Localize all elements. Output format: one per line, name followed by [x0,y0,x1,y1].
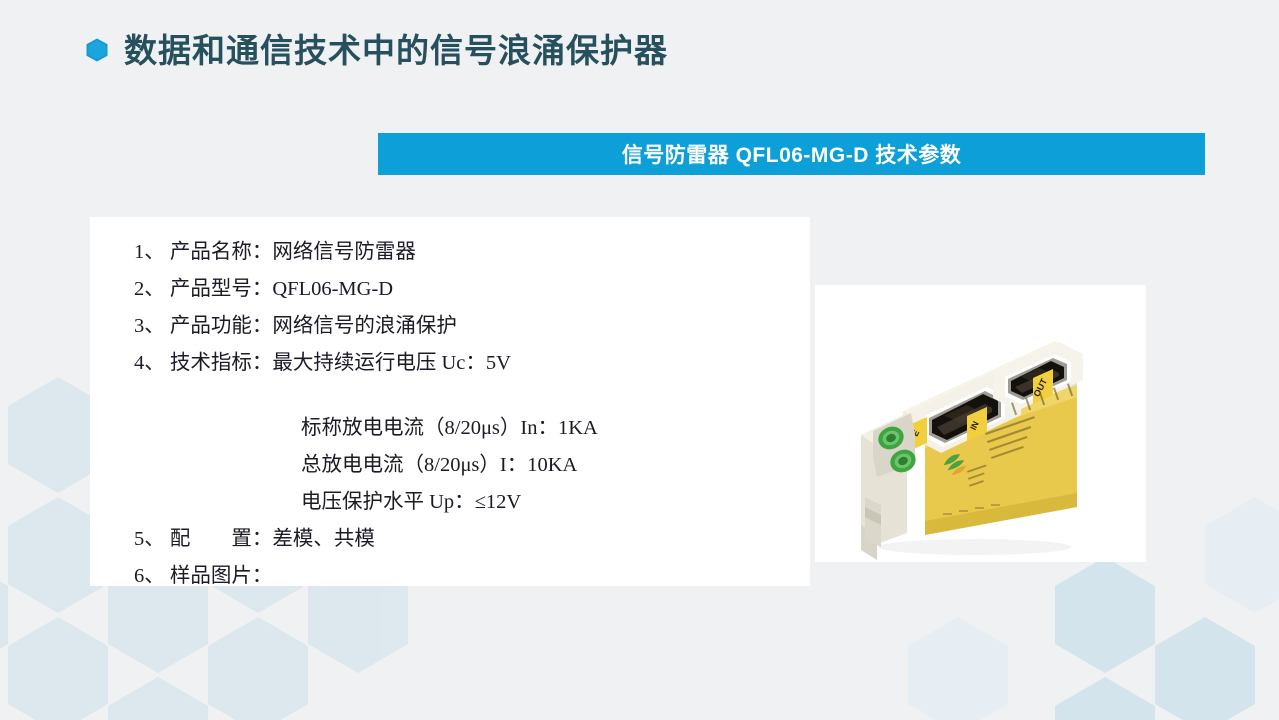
parameter-banner-text: 信号防雷器 QFL06-MG-D 技术参数 [622,139,962,169]
spec-line: 3、 产品功能：网络信号的浪涌保护 [134,308,800,345]
page-title: 数据和通信技术中的信号浪涌保护器 [86,22,668,78]
parameter-banner: 信号防雷器 QFL06-MG-D 技术参数 [378,133,1205,175]
spec-line: 1、 产品名称：网络信号防雷器 [134,234,800,271]
page-title-text: 数据和通信技术中的信号浪涌保护器 [124,34,668,67]
spec-spacer [134,382,800,410]
product-photo-image: IN OUT PE [815,285,1146,562]
spec-line: 4、 技术指标：最大持续运行电压 Uc：5V [134,345,800,382]
spec-line: 5、 配 置：差模、共模 [134,521,800,558]
spec-line: 总放电电流（8/20μs）I：10KA [134,447,800,484]
product-photo-panel: IN OUT PE [815,285,1146,562]
spec-line: 电压保护水平 Up：≤12V [134,484,800,521]
spec-line: 标称放电电流（8/20μs）In：1KA [134,410,800,447]
spec-line: 2、 产品型号：QFL06-MG-D [134,271,800,308]
specification-panel: 1、 产品名称：网络信号防雷器 2、 产品型号：QFL06-MG-D 3、 产品… [90,217,810,586]
hexagon-icon [86,38,108,62]
specification-list: 1、 产品名称：网络信号防雷器 2、 产品型号：QFL06-MG-D 3、 产品… [134,234,800,595]
spec-line: 6、 样品图片： [134,558,800,595]
